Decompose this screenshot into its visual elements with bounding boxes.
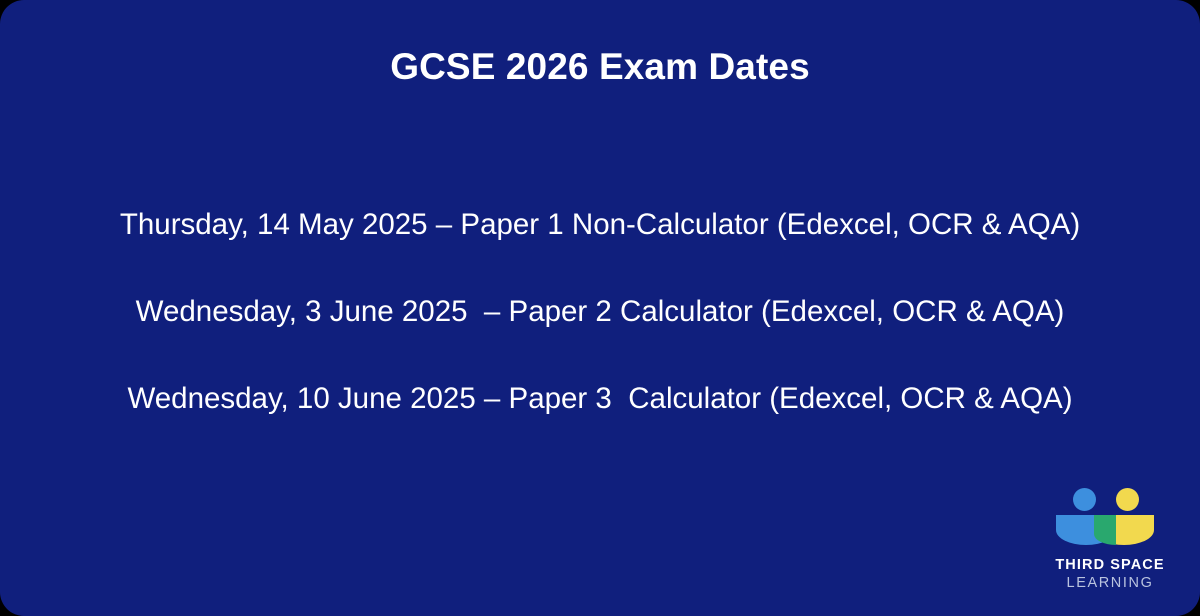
list-item: Wednesday, 3 June 2025 – Paper 2 Calcula… — [0, 292, 1200, 332]
list-item: Wednesday, 10 June 2025 – Paper 3 Calcul… — [0, 379, 1200, 419]
exam-dates-list: Thursday, 14 May 2025 – Paper 1 Non-Calc… — [0, 205, 1200, 419]
list-item: Thursday, 14 May 2025 – Paper 1 Non-Calc… — [0, 205, 1200, 245]
brand-wordmark: THIRD SPACE LEARNING — [1044, 556, 1176, 593]
brand-logo: THIRD SPACE LEARNING — [1044, 486, 1176, 594]
brand-name-secondary: LEARNING — [1044, 574, 1176, 593]
page-title: GCSE 2026 Exam Dates — [0, 46, 1200, 88]
head-circle-blue-icon — [1073, 488, 1096, 511]
head-circle-yellow-icon — [1116, 488, 1139, 511]
exam-dates-card: GCSE 2026 Exam Dates Thursday, 14 May 20… — [0, 0, 1200, 616]
brand-name-primary: THIRD SPACE — [1044, 556, 1176, 574]
smiley-faces-icon — [1044, 486, 1176, 546]
smile-overlap-shape — [1094, 515, 1116, 545]
